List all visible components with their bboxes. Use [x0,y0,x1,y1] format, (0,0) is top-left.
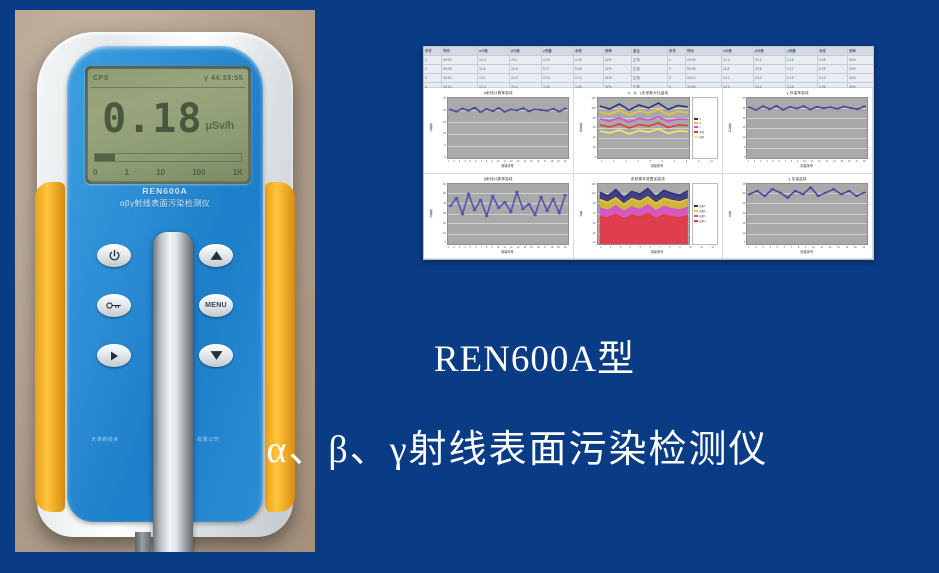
y-tick-label: 120 [584,97,596,100]
table-cell: 24.0 [510,74,542,82]
x-tick-label: 3 [625,160,626,163]
table-header-cell: 效率 [848,47,874,55]
chart-plot-area [597,97,691,159]
chart-y-axis-label: 总量 [727,183,733,245]
table-cell: 24.0 [754,74,786,82]
x-tick-label: 2 [453,246,454,249]
x-tick-label: 1 [748,246,749,249]
y-tick-label: 20 [733,212,745,215]
lcd-bargraph [94,153,242,162]
x-tick-label: 13 [837,246,840,249]
power-button[interactable] [97,244,131,267]
chart-title: β射线计数率曲线 [428,177,569,182]
lcd-unit: μSv/h [205,120,233,132]
x-tick-label: 7 [674,160,675,163]
x-tick-label: 3 [760,160,761,163]
x-tick-label: 6 [779,160,780,163]
x-tick-label: 6 [784,246,785,249]
device-name-print: αβγ射线表面污染检测仪 [67,198,263,209]
table-cell: 23.1 [510,56,542,64]
legend-label: γ [699,126,700,129]
chart-y-axis-label: 计数率 [428,183,434,245]
chart-y-axis-label: 计数 [578,183,584,245]
legend-swatch [694,220,698,222]
x-tick-label: 5 [470,160,471,163]
chart-series-svg [448,98,568,158]
x-tick-label: 19 [557,246,560,249]
x-tick-label: 5 [470,246,471,249]
y-tick-label: 0 [733,156,745,159]
lcd-divider [91,87,245,88]
triangle-up-icon [210,250,223,261]
y-tick-label: 0 [584,156,596,159]
y-tick-label: 15 [733,126,745,129]
chart-y-axis-label: 计数率 [428,97,434,159]
table-cell: 11.8 [722,65,754,73]
gridline [448,158,568,159]
y-tick-label: 40 [584,136,596,139]
x-tick-label: 8 [791,160,792,163]
table-header-cell: 本底 [818,47,848,55]
y-tick-label: 80 [584,117,596,120]
y-tick-label: 50 [434,192,446,195]
table-header-cell: 本底 [574,47,604,55]
lcd-reading-area: 0.18 μSv/h [88,91,248,147]
legend-swatch [694,215,698,217]
y-tick-label: 25 [733,107,745,110]
menu-button[interactable]: MENU [199,294,233,317]
legend-label: 核素2 [699,209,705,213]
y-tick-label: 5 [733,241,745,244]
y-tick-label: 10 [733,232,745,235]
x-tick-label: 13 [517,160,520,163]
x-tick-label: 14 [846,246,849,249]
y-tick-label: 20 [584,146,596,149]
y-tick-label: 60 [434,183,446,186]
x-tick-label: 1 [448,246,449,249]
chart-title: γ 总量曲线 [727,177,868,182]
x-tick-label: 18 [550,160,553,163]
legend-label: 本底 [699,130,704,134]
chart-1: α射线计数率曲线计数率25201510501234567891011121314… [424,88,574,174]
x-tick-label: 4 [769,246,770,249]
x-tick-label: 20 [564,160,567,163]
x-tick-label: 4 [637,160,638,163]
y-tick-label: 90 [584,202,596,205]
x-tick-label: 17 [544,246,547,249]
chart-4: β射线计数率曲线计数率60504030201001234567891011121… [424,174,574,260]
table-cell: 32% [848,65,874,73]
table-cell: 32% [848,56,874,64]
chart-y-ticks: 1301109070503010 [584,183,597,245]
x-tick-label: 1 [600,246,601,249]
table-cell: 0.18 [786,56,818,64]
x-tick-label: 15 [854,246,857,249]
chart-title: α射线计数率曲线 [428,91,569,96]
y-tick-label: 0 [434,156,446,159]
chart-y-axis-label: 剂量率 [727,97,733,159]
x-tick-label: 4 [464,160,465,163]
table-cell: 0.17 [786,65,818,73]
x-tick-label: 14 [833,160,836,163]
x-tick-label: 2 [453,160,454,163]
x-tick-label: 16 [537,160,540,163]
y-tick-label: 30 [733,97,745,100]
table-cell: 0.18 [542,56,574,64]
legend-label: 核素4 [699,219,705,223]
chart-series-svg [747,98,867,158]
lcd-status-row: CPS γ 44:33:55 [93,72,243,85]
x-tick-label: 12 [711,246,714,249]
chart-series-svg [598,98,690,158]
table-cell: 12.4 [478,56,510,64]
table-cell: 32% [604,65,632,73]
x-tick-label: 7 [480,246,481,249]
table-cell: 09:05 [442,65,478,73]
x-tick-label: 16 [537,246,540,249]
x-tick-label: 7 [785,160,786,163]
chart-x-axis-label: 测量序号 [428,163,569,168]
y-tick-label: 130 [584,183,596,186]
lcd-display: CPS γ 44:33:55 0.18 μSv/h 0 1 10 [88,69,248,181]
table-cell: 32% [604,56,632,64]
chart-series-svg [598,184,690,244]
x-tick-label: 3 [459,160,460,163]
chart-x-axis-label: 测量序号 [428,249,569,254]
x-tick-label: 12 [829,246,832,249]
x-tick-label: 9 [797,160,798,163]
table-header-cell: 备注 [632,47,668,55]
y-tick-label: 60 [584,126,596,129]
y-tick-label: 0 [434,241,446,244]
table-header-cell: γ剂量 [786,47,818,55]
key-button[interactable] [97,294,131,317]
x-tick-label: 9 [491,160,492,163]
legend-swatch [694,122,698,124]
x-tick-label: 6 [475,160,476,163]
lcd-scale-row: 0 1 10 100 1K [93,165,243,179]
x-tick-label: 16 [848,160,851,163]
legend-swatch [694,205,698,207]
table-cell: 0.09 [818,56,848,64]
table-cell: 1 [668,56,686,64]
table-cell: 1 [424,56,442,64]
device-probe-stem [135,532,151,552]
x-tick-label: 7 [791,246,792,249]
table-cell: 0.19 [542,74,574,82]
gridline [448,244,568,245]
chart-series-svg [747,184,867,244]
x-tick-label: 2 [610,246,611,249]
gridline [598,158,690,159]
gridline [598,244,690,245]
x-tick-label: 1 [448,160,449,163]
chart-plot-area [746,183,868,245]
x-tick-label: 14 [523,246,526,249]
x-tick-label: 13 [517,246,520,249]
table-cell: 22.6 [754,65,786,73]
product-name-title: α、β、γ射线表面污染检测仪 [0,418,939,473]
chart-plot-area [597,183,691,245]
y-tick-label: 50 [584,222,596,225]
legend-label: α [699,118,700,121]
x-tick-label: 12 [818,160,821,163]
lcd-scale-tick: 1 [125,168,129,177]
y-tick-label: 20 [434,222,446,225]
lcd-bezel: CPS γ 44:33:55 0.18 μSv/h 0 1 10 [85,66,251,184]
legend-label: 核素3 [699,214,705,218]
table-cell: 13.1 [478,74,510,82]
table-cell: 正常 [632,56,668,64]
chart-plot-area [447,97,569,159]
table-cell: 09:10 [686,74,722,82]
y-tick-label: 25 [733,202,745,205]
legend-entry: 核素2 [694,209,716,213]
table-header-row: 序号时间α计数β计数γ剂量本底效率备注序号时间α计数β计数γ剂量本底效率备注 [424,47,873,56]
legend-entry: 本底 [694,130,716,134]
y-tick-label: 5 [733,146,745,149]
chart-legend: αβγ本底效率 [692,97,718,159]
y-tick-label: 110 [584,192,596,195]
x-tick-label: 8 [486,246,487,249]
x-tick-label: 2 [754,160,755,163]
table-cell: 3 [424,74,442,82]
chart-6: γ 总量曲线总量35302520151051234567891011121314… [723,174,873,260]
gridline [747,158,867,159]
legend-label: 效率 [699,135,704,139]
y-tick-label: 10 [434,132,446,135]
device-silkscreen: REN600A αβγ射线表面污染检测仪 [67,186,263,209]
x-tick-label: 4 [630,246,631,249]
x-tick-label: 10 [710,160,713,163]
table-header-cell: α计数 [478,47,510,55]
table-cell: 11.8 [478,65,510,73]
chart-title: α、β、γ多参数对比曲线 [578,91,719,96]
y-tick-label: 20 [733,117,745,120]
y-tick-label: 20 [434,109,446,112]
chart-x-ticks: 12345678910111213141516 [727,246,868,249]
table-header-cell: β计数 [754,47,786,55]
table-header-cell: 时间 [442,47,478,55]
table-header-cell: β计数 [510,47,542,55]
poster-background: CPS γ 44:33:55 0.18 μSv/h 0 1 10 [0,0,939,573]
table-cell: 正常 [632,74,668,82]
gridline [747,244,867,245]
chart-legend: 核素1核素2核素3核素4 [692,183,718,245]
table-header-cell: 效率 [604,47,632,55]
y-tick-label: 35 [733,183,745,186]
y-tick-label: 70 [584,212,596,215]
lcd-scale-tick: 10 [156,168,165,177]
table-header-cell: 序号 [668,47,686,55]
x-tick-label: 20 [564,246,567,249]
legend-swatch [694,118,698,120]
x-tick-label: 17 [544,160,547,163]
table-row: 209:0511.822.60.170.0932%正常209:0511.822.… [424,65,873,74]
table-cell: 09:00 [442,56,478,64]
legend-entry: 核素1 [694,204,716,208]
software-screenshot-panel: 序号时间α计数β计数γ剂量本底效率备注序号时间α计数β计数γ剂量本底效率备注10… [423,46,874,260]
table-cell: 0.09 [818,65,848,73]
table-row: 309:1013.124.00.190.1031%正常309:1013.124.… [424,74,873,83]
y-tick-label: 30 [733,192,745,195]
x-tick-label: 9 [698,160,699,163]
x-tick-label: 9 [679,246,680,249]
table-cell: 09:10 [442,74,478,82]
table-cell: 0.17 [542,65,574,73]
x-tick-label: 18 [863,160,866,163]
legend-swatch [694,210,698,212]
key-icon [106,300,122,311]
x-tick-label: 3 [459,246,460,249]
legend-swatch [694,131,698,133]
y-tick-label: 10 [584,241,596,244]
y-tick-label: 40 [434,202,446,205]
chart-5: 各核素本底叠加曲线计数1301109070503010核素1核素2核素3核素41… [574,174,724,260]
chart-grid: α射线计数率曲线计数率25201510501234567891011121314… [424,88,873,259]
chart-series-svg [448,184,568,244]
x-tick-label: 8 [686,160,687,163]
x-tick-label: 14 [523,160,526,163]
x-tick-label: 3 [762,246,763,249]
y-tick-label: 10 [434,232,446,235]
lcd-status-left: CPS [93,75,109,82]
table-cell: 0.10 [574,74,604,82]
y-tick-label: 30 [584,232,596,235]
x-tick-label: 3 [620,246,621,249]
chart-y-ticks: 6050403020100 [434,183,447,245]
x-tick-label: 11 [700,246,702,249]
chart-y-axis-label: 测量值 [578,97,584,159]
chart-y-ticks: 120100806040200 [584,97,597,159]
table-cell: 23.1 [754,56,786,64]
x-tick-label: 2 [613,160,614,163]
table-cell: 31% [604,74,632,82]
legend-entry: β [694,122,716,125]
table-cell: 3 [668,74,686,82]
table-cell: 0.09 [574,65,604,73]
chart-x-axis-label: 测量序号 [727,163,868,168]
table-cell: 0.10 [818,74,848,82]
menu-button-label: MENU [205,302,227,309]
x-tick-label: 5 [772,160,773,163]
x-tick-label: 15 [530,246,533,249]
x-tick-label: 15 [840,160,843,163]
table-cell: 22.6 [510,65,542,73]
table-cell: 2 [668,65,686,73]
table-cell: 09:05 [686,65,722,73]
x-tick-label: 8 [798,246,799,249]
y-tick-label: 15 [434,121,446,124]
x-tick-label: 7 [480,160,481,163]
chart-2: α、β、γ多参数对比曲线测量值120100806040200αβγ本底效率123… [574,88,724,174]
legend-entry: 核素3 [694,214,716,218]
table-header-cell: 时间 [686,47,722,55]
data-table-strip: 序号时间α计数β计数γ剂量本底效率备注序号时间α计数β计数γ剂量本底效率备注10… [424,47,873,88]
table-header-cell: γ剂量 [542,47,574,55]
product-model-title: REN600A型 [0,328,939,382]
x-tick-label: 10 [497,160,500,163]
table-header-cell: α计数 [722,47,754,55]
x-tick-label: 5 [777,246,778,249]
y-tick-label: 15 [733,222,745,225]
x-tick-label: 10 [689,246,692,249]
table-cell: 13.1 [722,74,754,82]
x-tick-label: 1 [601,160,602,163]
x-tick-label: 19 [557,160,560,163]
y-tick-label: 10 [733,136,745,139]
table-header-cell: 序号 [424,47,442,55]
legend-label: β [699,122,700,125]
x-tick-label: 5 [640,246,641,249]
table-cell: 09:00 [686,56,722,64]
chart-plot-area [746,97,868,159]
x-tick-label: 18 [550,246,553,249]
lcd-scale-tick: 1K [233,168,243,177]
x-tick-label: 16 [862,246,865,249]
chart-y-ticks: 3530252015105 [733,183,746,245]
legend-entry: α [694,118,716,121]
chart-title: γ 剂量率曲线 [727,91,868,96]
table-cell: 31% [848,74,874,82]
device-model-print: REN600A [67,186,263,196]
x-tick-label: 10 [497,246,500,249]
legend-swatch [694,136,698,138]
table-cell: 2 [424,65,442,73]
chart-3: γ 剂量率曲线剂量率302520151050123456789101112131… [723,88,873,174]
lcd-scale-tick: 100 [192,168,205,177]
power-icon [108,249,121,262]
x-tick-label: 9 [491,246,492,249]
x-tick-label: 6 [475,246,476,249]
table-cell: 正常 [632,65,668,73]
up-button[interactable] [199,244,233,267]
x-tick-label: 2 [755,246,756,249]
x-tick-label: 8 [669,246,670,249]
x-tick-label: 8 [486,160,487,163]
chart-plot-area [447,183,569,245]
legend-entry: 核素4 [694,219,716,223]
chart-x-axis-label: 测量序号 [578,249,719,254]
x-tick-label: 4 [464,246,465,249]
chart-y-ticks: 2520151050 [434,97,447,159]
chart-y-ticks: 302520151050 [733,97,746,159]
device-handle [153,232,193,552]
x-tick-label: 15 [530,160,533,163]
table-cell: 0.09 [574,56,604,64]
table-cell: 0.19 [786,74,818,82]
x-tick-label: 17 [855,160,858,163]
x-tick-label: 13 [825,160,828,163]
chart-x-ticks: 123456789101112131415161718 [727,160,868,163]
lcd-scale-tick: 0 [93,168,97,177]
y-tick-label: 30 [434,212,446,215]
y-tick-label: 25 [434,97,446,100]
lcd-status-right: γ 44:33:55 [204,75,243,82]
table-row: 109:0012.423.10.180.0932%正常109:0012.423.… [424,56,873,65]
table-cell: 12.4 [722,56,754,64]
chart-x-axis-label: 测量序号 [578,163,719,168]
x-tick-label: 4 [766,160,767,163]
legend-label: 核素1 [699,204,705,208]
y-tick-label: 5 [434,144,446,147]
x-tick-label: 1 [748,160,749,163]
chart-x-axis-label: 测量序号 [727,249,868,254]
x-tick-label: 11 [820,246,822,249]
legend-entry: 效率 [694,135,716,139]
lcd-value: 0.18 [102,99,202,139]
y-tick-label: 100 [584,107,596,110]
